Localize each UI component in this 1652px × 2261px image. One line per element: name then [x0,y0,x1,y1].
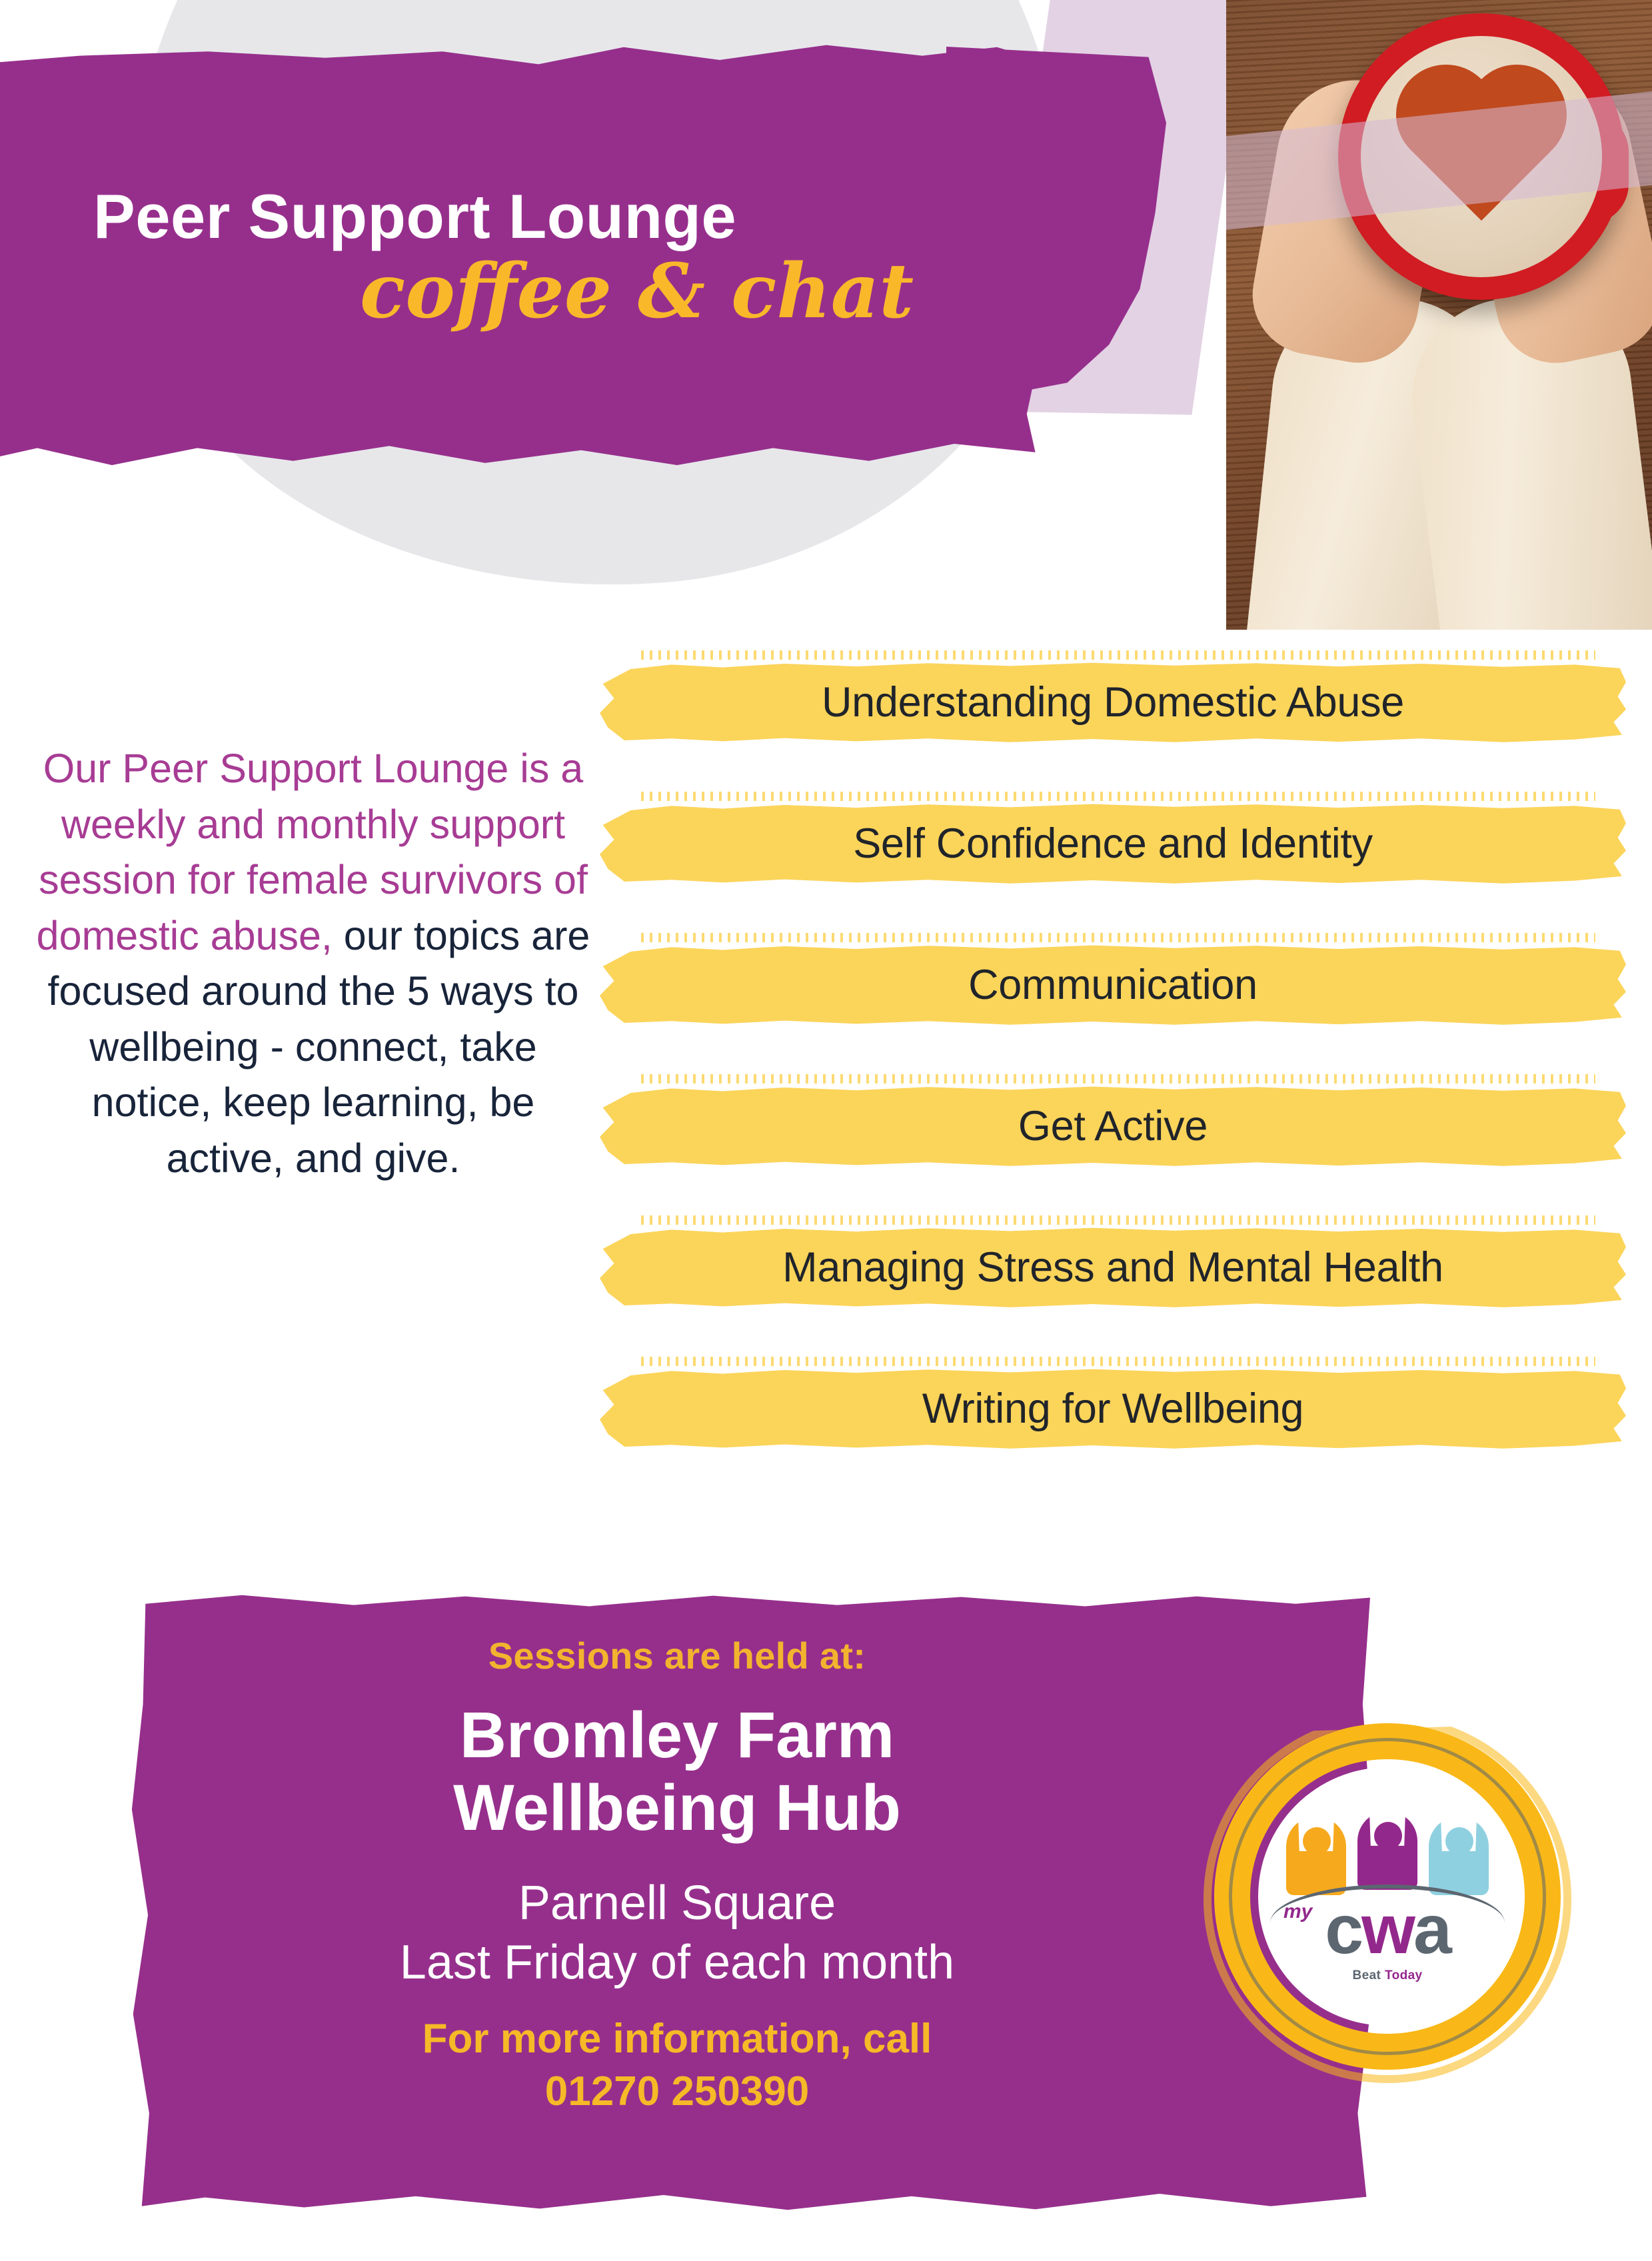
logo-wordmark: cwa [1214,1895,1561,1964]
venue-name: Bromley Farm Wellbeing Hub [131,1699,1224,1844]
brush-speckle [641,1357,1595,1366]
logo-letter-w: w [1361,1891,1413,1968]
coffee-cup-photo [1226,0,1652,630]
venue-address-block: Parnell Square Last Friday of each month [131,1874,1224,1993]
logo-letter-c: c [1325,1891,1361,1968]
contact-cta-label: For more information, call [131,2012,1224,2065]
venue-name-line2: Wellbeing Hub [131,1772,1224,1845]
topic-label: Self Confidence and Identity [853,820,1373,868]
topic-label: Writing for Wellbeing [922,1385,1304,1433]
contact-phone-number[interactable]: 01270 250390 [131,2065,1224,2118]
brush-speckle [641,1074,1595,1084]
topic-item: Managing Stress and Mental Health [600,1221,1626,1313]
logo-tagline-purple: Today [1385,1968,1423,1982]
topic-item: Self Confidence and Identity [600,798,1626,889]
logo-tagline: Beat Today [1214,1968,1561,1983]
logo-figure-orange-icon [1282,1811,1350,1896]
header-banner: Peer Support Lounge coffee & chat [0,0,1652,640]
topic-label: Understanding Domestic Abuse [822,678,1404,726]
brush-speckle [641,1215,1595,1225]
page-subtitle: coffee & chat [360,255,1093,329]
figure-head [1445,1827,1473,1855]
logo-figure-purple-icon [1353,1806,1421,1891]
topics-list: Understanding Domestic Abuse Self Confid… [600,656,1626,1504]
venue-panel: Sessions are held at: Bromley Farm Wellb… [131,1593,1370,2212]
topic-item: Get Active [600,1080,1626,1171]
topic-item: Communication [600,939,1626,1030]
topic-item: Understanding Domestic Abuse [600,656,1626,748]
brush-speckle [641,792,1595,801]
page-title: Peer Support Lounge [93,185,960,248]
panel-eyebrow-label: Sessions are held at: [131,1634,1224,1677]
brush-speckle [641,650,1595,660]
topic-label: Communication [968,961,1257,1009]
contact-cta[interactable]: For more information, call 01270 250390 [131,2012,1224,2118]
figure-head [1303,1827,1331,1855]
logo-tagline-grey: Beat [1352,1968,1381,1982]
venue-schedule: Last Friday of each month [131,1933,1224,1992]
logo-letter-a: a [1413,1891,1450,1968]
topic-label: Get Active [1018,1102,1208,1150]
brush-speckle [641,933,1595,942]
figure-head [1374,1822,1402,1850]
venue-address: Parnell Square [131,1874,1224,1933]
intro-paragraph: Our Peer Support Lounge is a weekly and … [33,741,593,1187]
venue-name-line1: Bromley Farm [131,1699,1224,1772]
logo-figure-blue-icon [1425,1811,1493,1896]
topic-label: Managing Stress and Mental Health [782,1243,1443,1291]
topic-item: Writing for Wellbeing [600,1363,1626,1454]
cwa-logo: my cwa Beat Today [1214,1723,1561,2070]
